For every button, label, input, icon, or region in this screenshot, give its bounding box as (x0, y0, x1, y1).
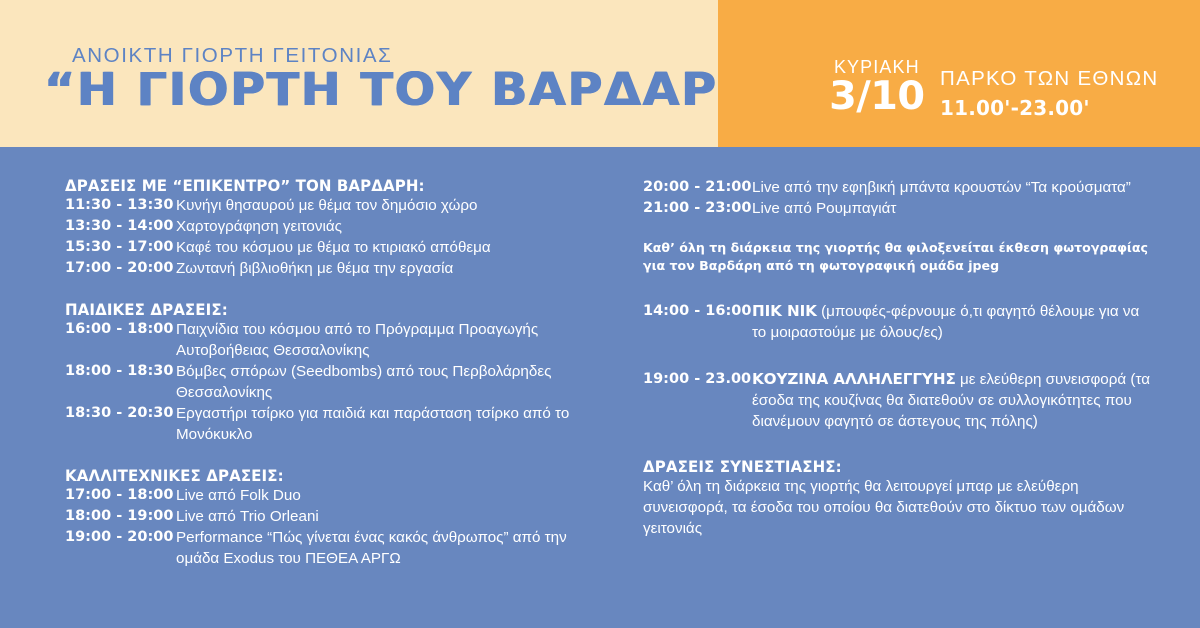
date-block: ΚΥΡΙΑΚΗ 3/10 (830, 58, 924, 117)
schedule-row: 17:00 - 18:00 Live από Folk Duo (65, 485, 595, 506)
row-desc: Ζωντανή βιβλιοθήκη με θέμα την εργασία (176, 258, 453, 279)
row-time: 18:00 - 19:00 (65, 506, 176, 527)
row-desc: Εργαστήρι τσίρκο για παιδιά και παράστασ… (176, 403, 595, 445)
row-desc: Live από Ρουμπαγιάτ (752, 198, 896, 219)
row-desc: Παιχνίδια του κόσμου από το Πρόγραμμα Πρ… (176, 319, 595, 361)
left-column: ΔΡΑΣΕΙΣ ΜΕ “ΕΠΙΚΕΝΤΡΟ” ΤΟΝ ΒΑΡΔΑΡΗ: 11:3… (65, 147, 595, 569)
row-time: 21:00 - 23:00 (643, 198, 752, 219)
poster-title: “Η ΓΙΟΡΤΗ ΤΟΥ ΒΑΡΔΑΡΗ” (44, 63, 792, 116)
section-heading: ΔΡΑΣΕΙΣ ΜΕ “ΕΠΙΚΕΝΤΡΟ” ΤΟΝ ΒΑΡΔΑΡΗ: (65, 177, 579, 195)
schedule-row: 20:00 - 21:00 Live από την εφηβική μπάντ… (643, 177, 1153, 198)
row-desc: Live από Trio Orleani (176, 506, 319, 527)
schedule-row: 21:00 - 23:00 Live από Ρουμπαγιάτ (643, 198, 1153, 219)
section-childrens-activities: ΠΑΙΔΙΚΕΣ ΔΡΑΣΕΙΣ: 16:00 - 18:00 Παιχνίδι… (65, 301, 595, 445)
kitchen-label: ΚΟΥΖΙΝΑ ΑΛΛΗΛΕΓΓΥΗΣ (752, 370, 956, 388)
dining-body: Καθ’ όλη τη διάρκεια της γιορτής θα λειτ… (643, 476, 1153, 539)
section-dining-actions: ΔΡΑΣΕΙΣ ΣΥΝΕΣΤΙΑΣΗΣ: Καθ’ όλη τη διάρκει… (643, 458, 1153, 539)
row-time: 16:00 - 18:00 (65, 319, 176, 340)
event-poster: ΑΝΟΙΚΤΗ ΓΙΟΡΤΗ ΓΕΙΤΟΝΙΑΣ “Η ΓΙΟΡΤΗ ΤΟΥ Β… (0, 0, 1200, 628)
picnic-row: 14:00 - 16:00 ΠΙΚ ΝΙΚ (μπουφές-φέρνουμε … (643, 301, 1153, 343)
row-time: 17:00 - 20:00 (65, 258, 176, 279)
venue-hours: 11.00'-23.00' (940, 93, 1159, 124)
section-artistic-activities: ΚΑΛΛΙΤΕΧΝΙΚΕΣ ΔΡΑΣΕΙΣ: 17:00 - 18:00 Liv… (65, 467, 595, 569)
venue-name: ΠΑΡΚΟ ΤΩΝ ΕΘΝΩΝ (940, 66, 1159, 93)
row-time: 11:30 - 13:30 (65, 195, 176, 216)
row-time: 18:30 - 20:30 (65, 403, 176, 424)
section-heading: ΠΑΙΔΙΚΕΣ ΔΡΑΣΕΙΣ: (65, 301, 579, 319)
row-time: 14:00 - 16:00 (643, 301, 752, 322)
right-column: 20:00 - 21:00 Live από την εφηβική μπάντ… (643, 147, 1153, 539)
venue-block: ΠΑΡΚΟ ΤΩΝ ΕΘΝΩΝ 11.00'-23.00' (940, 66, 1159, 124)
row-desc: Βόμβες σπόρων (Seedbombs) από τους Περβο… (176, 361, 595, 403)
schedule-row: 19:00 - 20:00 Performance “Πώς γίνεται έ… (65, 527, 595, 569)
header-title-panel: ΑΝΟΙΚΤΗ ΓΙΟΡΤΗ ΓΕΙΤΟΝΙΑΣ “Η ΓΙΟΡΤΗ ΤΟΥ Β… (0, 0, 718, 147)
poster-header: ΑΝΟΙΚΤΗ ΓΙΟΡΤΗ ΓΕΙΤΟΝΙΑΣ “Η ΓΙΟΡΤΗ ΤΟΥ Β… (0, 0, 1200, 147)
row-desc: Performance “Πώς γίνεται ένας κακός άνθρ… (176, 527, 595, 569)
row-time: 15:30 - 17:00 (65, 237, 176, 258)
row-desc: ΚΟΥΖΙΝΑ ΑΛΛΗΛΕΓΓΥΗΣ με ελεύθερη συνεισφο… (752, 369, 1153, 432)
photo-exhibition-note: Καθ’ όλη τη διάρκεια της γιορτής θα φιλο… (643, 239, 1153, 275)
row-desc: ΠΙΚ ΝΙΚ (μπουφές-φέρνουμε ό,τι φαγητό θέ… (752, 301, 1153, 343)
row-desc: Χαρτογράφηση γειτονιάς (176, 216, 342, 237)
row-time: 18:00 - 18:30 (65, 361, 176, 382)
section-live-music: 20:00 - 21:00 Live από την εφηβική μπάντ… (643, 177, 1153, 219)
row-desc: Καφέ του κόσμου με θέμα το κτιριακό απόθ… (176, 237, 491, 258)
section-heading: ΔΡΑΣΕΙΣ ΣΥΝΕΣΤΙΑΣΗΣ: (643, 458, 1138, 476)
solidarity-kitchen-row: 19:00 - 23.00 ΚΟΥΖΙΝΑ ΑΛΛΗΛΕΓΓΥΗΣ με ελε… (643, 369, 1153, 432)
row-time: 19:00 - 23.00 (643, 369, 752, 390)
header-date-panel: ΚΥΡΙΑΚΗ 3/10 ΠΑΡΚΟ ΤΩΝ ΕΘΝΩΝ 11.00'-23.0… (718, 0, 1200, 147)
schedule-row: 18:30 - 20:30 Εργαστήρι τσίρκο για παιδι… (65, 403, 595, 445)
event-date: 3/10 (829, 77, 925, 117)
section-heading: ΚΑΛΛΙΤΕΧΝΙΚΕΣ ΔΡΑΣΕΙΣ: (65, 467, 579, 485)
schedule-row: 15:30 - 17:00 Καφέ του κόσμου με θέμα το… (65, 237, 595, 258)
row-desc: Κυνήγι θησαυρού με θέμα τον δημόσιο χώρο (176, 195, 477, 216)
schedule-row: 13:30 - 14:00 Χαρτογράφηση γειτονιάς (65, 216, 595, 237)
schedule-row: 17:00 - 20:00 Ζωντανή βιβλιοθήκη με θέμα… (65, 258, 595, 279)
picnic-label: ΠΙΚ ΝΙΚ (752, 302, 817, 320)
section-vardaris-focus: ΔΡΑΣΕΙΣ ΜΕ “ΕΠΙΚΕΝΤΡΟ” ΤΟΝ ΒΑΡΔΑΡΗ: 11:3… (65, 177, 595, 279)
schedule-row: 11:30 - 13:30 Κυνήγι θησαυρού με θέμα το… (65, 195, 595, 216)
row-time: 13:30 - 14:00 (65, 216, 176, 237)
schedule-row: 18:00 - 18:30 Βόμβες σπόρων (Seedbombs) … (65, 361, 595, 403)
schedule-row: 18:00 - 19:00 Live από Trio Orleani (65, 506, 595, 527)
row-time: 19:00 - 20:00 (65, 527, 176, 548)
row-time: 17:00 - 18:00 (65, 485, 176, 506)
schedule-row: 16:00 - 18:00 Παιχνίδια του κόσμου από τ… (65, 319, 595, 361)
row-desc: Live από Folk Duo (176, 485, 301, 506)
row-time: 20:00 - 21:00 (643, 177, 752, 198)
row-desc: Live από την εφηβική μπάντα κρουστών “Τα… (752, 177, 1131, 198)
